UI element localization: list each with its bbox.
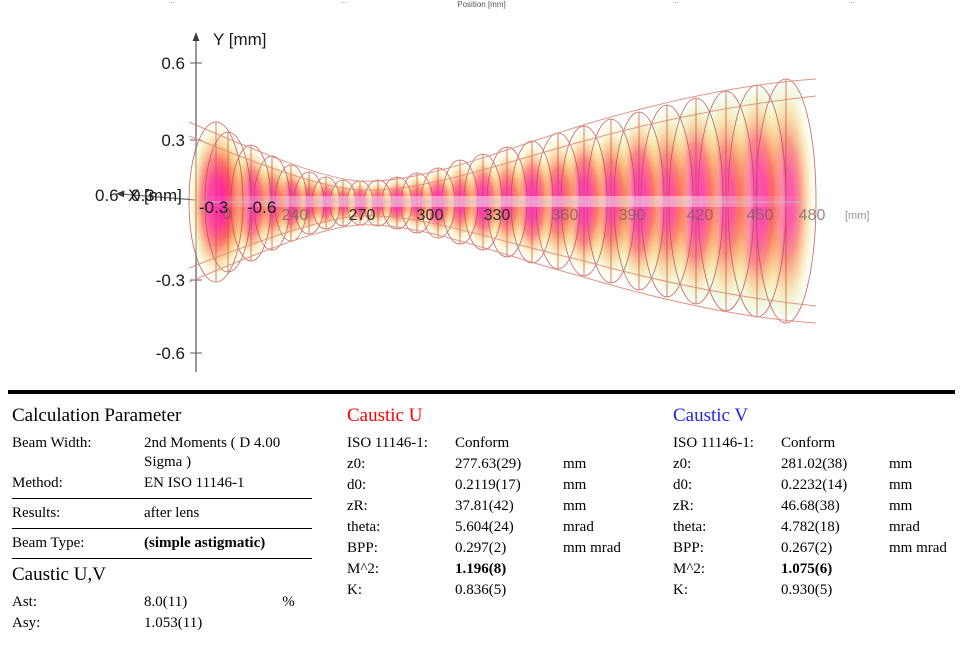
beam-type-table: Beam Type: (simple astigmatic) — [12, 533, 312, 554]
caustic-u-heading: Caustic U — [347, 404, 657, 428]
z-tick-label: 270 — [349, 207, 376, 224]
section-divider — [8, 390, 955, 394]
y-tick-label: -0.3 — [156, 271, 185, 290]
row-unit: % — [282, 592, 312, 613]
z-axis-title: [mm] — [845, 210, 869, 222]
row-unit: mm — [563, 475, 657, 496]
table-row: theta: 4.782(18) mrad — [673, 517, 959, 538]
z-tick-label: 360 — [552, 207, 579, 224]
row-unit: mm — [889, 475, 959, 496]
row-key: z0: — [673, 454, 781, 475]
row-key: Ast: — [12, 592, 144, 613]
row-unit: mm mrad — [889, 538, 959, 559]
row-key: z0: — [347, 454, 455, 475]
row-value: 1.196(8) — [455, 559, 563, 580]
remnant-axis-title: Position [mm] — [0, 0, 963, 9]
caustic-u-table: ISO 11146-1: Conform z0: 277.63(29) mm d… — [347, 433, 657, 601]
row-key: BPP: — [347, 538, 455, 559]
calculation-parameter-column: Calculation Parameter Beam Width: 2nd Mo… — [12, 404, 312, 634]
z-tick-label: 480 — [799, 207, 826, 224]
row-value: Conform — [455, 433, 563, 454]
row-key: M^2: — [347, 559, 455, 580]
table-row: Method: EN ISO 11146-1 — [12, 473, 312, 494]
table-row: M^2: 1.075(6) — [673, 559, 959, 580]
x-tick-label: -0.6 — [247, 198, 276, 217]
row-unit — [889, 580, 959, 601]
row-value: 281.02(38) — [781, 454, 889, 475]
x-tick-label: 0.6 — [95, 186, 119, 205]
row-value: 4.782(18) — [781, 517, 889, 538]
caustic-v-table: ISO 11146-1: Conform z0: 281.02(38) mm d… — [673, 433, 959, 601]
row-value: 0.930(5) — [781, 580, 889, 601]
caustic-uv-heading: Caustic U,V — [12, 563, 312, 587]
caustic-v-column: Caustic V ISO 11146-1: Conform z0: 281.0… — [673, 404, 959, 601]
divider — [12, 558, 312, 559]
z-tick-label: 420 — [687, 207, 714, 224]
row-key: Method: — [12, 473, 144, 494]
results-table: Results: after lens — [12, 503, 312, 524]
row-key: Beam Width: — [12, 433, 144, 473]
table-row: Asy: 1.053(11) — [12, 613, 312, 634]
table-row: BPP: 0.267(2) mm mrad — [673, 538, 959, 559]
row-key: zR: — [673, 496, 781, 517]
beam-axis-glow — [196, 196, 806, 207]
row-unit: mm — [889, 454, 959, 475]
caustic-plot-svg[interactable]: 0.6 0.3 -0.3 -0.6 Y [mm] 0.6 0.3 -0.3 -0… — [0, 16, 963, 390]
table-row: Beam Type: (simple astigmatic) — [12, 533, 312, 554]
divider — [12, 498, 312, 499]
row-unit: mrad — [563, 517, 657, 538]
row-value: 0.2232(14) — [781, 475, 889, 496]
row-key: d0: — [673, 475, 781, 496]
row-value: 277.63(29) — [455, 454, 563, 475]
divider — [12, 528, 312, 529]
row-key: Beam Type: — [12, 533, 144, 554]
row-unit: mrad — [889, 517, 959, 538]
z-tick-label: 240 — [282, 207, 309, 224]
row-key: BPP: — [673, 538, 781, 559]
table-row: Results: after lens — [12, 503, 312, 524]
y-tick-label: 0.3 — [161, 131, 185, 150]
row-value: 0.2119(17) — [455, 475, 563, 496]
caustic-u-column: Caustic U ISO 11146-1: Conform z0: 277.6… — [347, 404, 657, 601]
row-unit — [889, 433, 959, 454]
row-unit: mm mrad — [563, 538, 657, 559]
z-tick-label: 330 — [484, 207, 511, 224]
table-row: z0: 281.02(38) mm — [673, 454, 959, 475]
row-unit: mm — [563, 496, 657, 517]
y-axis-title: Y [mm] — [213, 30, 267, 49]
table-row: BPP: 0.297(2) mm mrad — [347, 538, 657, 559]
z-tick-label: 0 — [223, 206, 232, 223]
row-unit: mm — [563, 454, 657, 475]
z-tick-label: 300 — [417, 207, 444, 224]
table-row: zR: 46.68(38) mm — [673, 496, 959, 517]
results-area: Calculation Parameter Beam Width: 2nd Mo… — [0, 404, 963, 666]
row-value: 8.0(11) — [144, 592, 282, 613]
row-key: M^2: — [673, 559, 781, 580]
y-tick-label: 0.6 — [161, 54, 185, 73]
table-row: K: 0.930(5) — [673, 580, 959, 601]
caustic-plot-panel[interactable]: 0.6 0.3 -0.3 -0.6 Y [mm] 0.6 0.3 -0.3 -0… — [0, 16, 963, 390]
row-unit: mm — [889, 496, 959, 517]
row-value: 0.297(2) — [455, 538, 563, 559]
row-key: d0: — [347, 475, 455, 496]
z-tick-label: 450 — [747, 207, 774, 224]
row-key: Results: — [12, 503, 144, 524]
table-row: z0: 277.63(29) mm — [347, 454, 657, 475]
row-value: EN ISO 11146-1 — [144, 473, 312, 494]
y-tick-labels: 0.6 0.3 -0.3 -0.6 — [156, 54, 185, 363]
table-row: Ast: 8.0(11) % — [12, 592, 312, 613]
table-row: d0: 0.2232(14) mm — [673, 475, 959, 496]
row-value: 0.267(2) — [781, 538, 889, 559]
table-row: K: 0.836(5) — [347, 580, 657, 601]
row-key: ISO 11146-1: — [673, 433, 781, 454]
row-key: Asy: — [12, 613, 144, 634]
caustic-uv-table: Ast: 8.0(11) % Asy: 1.053(11) — [12, 592, 312, 634]
table-row: ISO 11146-1: Conform — [673, 433, 959, 454]
row-value: (simple astigmatic) — [144, 533, 312, 554]
row-value: 46.68(38) — [781, 496, 889, 517]
row-key: theta: — [347, 517, 455, 538]
z-tick-label: 390 — [619, 207, 646, 224]
row-value: 37.81(42) — [455, 496, 563, 517]
caustic-v-heading: Caustic V — [673, 404, 959, 428]
row-unit — [889, 559, 959, 580]
table-row: d0: 0.2119(17) mm — [347, 475, 657, 496]
top-chart-remnant: ... ... ... ... Position [mm] — [0, 0, 963, 16]
row-value: 2nd Moments ( D 4.00 Sigma ) — [144, 433, 312, 473]
row-value: Conform — [781, 433, 889, 454]
row-key: theta: — [673, 517, 781, 538]
row-key: zR: — [347, 496, 455, 517]
row-key: K: — [347, 580, 455, 601]
row-unit — [563, 580, 657, 601]
row-value: 0.836(5) — [455, 580, 563, 601]
row-value: 5.604(24) — [455, 517, 563, 538]
x-axis-title: X [mm] — [128, 186, 182, 205]
row-value: after lens — [144, 503, 312, 524]
table-row: M^2: 1.196(8) — [347, 559, 657, 580]
row-unit — [563, 433, 657, 454]
calculation-parameter-table: Beam Width: 2nd Moments ( D 4.00 Sigma )… — [12, 433, 312, 494]
row-key: K: — [673, 580, 781, 601]
table-row: Beam Width: 2nd Moments ( D 4.00 Sigma ) — [12, 433, 312, 473]
row-unit — [282, 613, 312, 634]
table-row: zR: 37.81(42) mm — [347, 496, 657, 517]
table-row: theta: 5.604(24) mrad — [347, 517, 657, 538]
row-value: 1.075(6) — [781, 559, 889, 580]
calculation-parameter-heading: Calculation Parameter — [12, 404, 312, 428]
row-value: 1.053(11) — [144, 613, 282, 634]
y-tick-label: -0.6 — [156, 344, 185, 363]
table-row: ISO 11146-1: Conform — [347, 433, 657, 454]
row-key: ISO 11146-1: — [347, 433, 455, 454]
row-unit — [563, 559, 657, 580]
